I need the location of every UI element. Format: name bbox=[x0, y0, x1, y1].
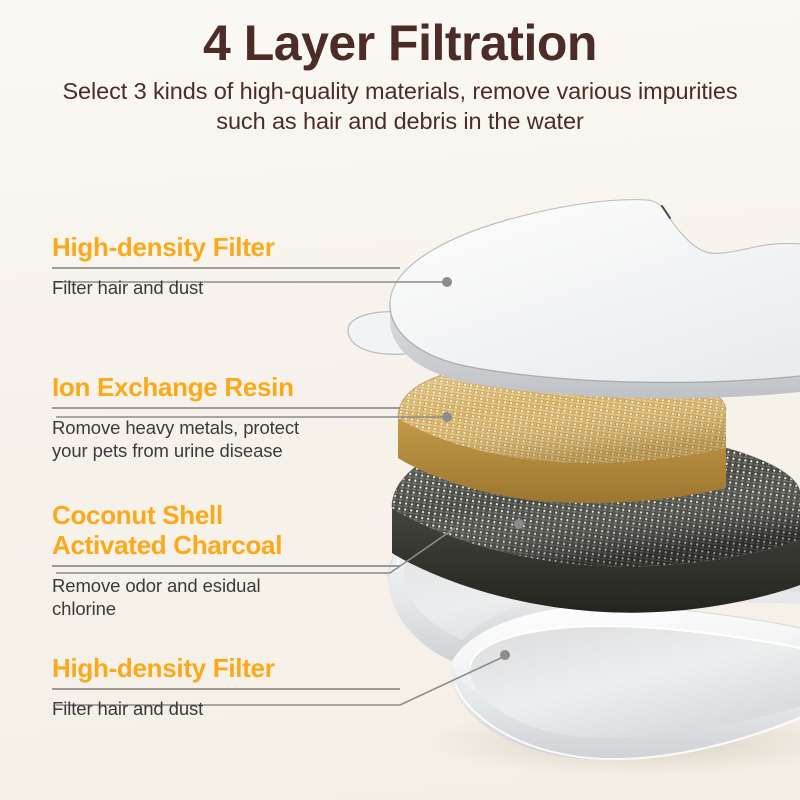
layer-divider bbox=[52, 267, 400, 269]
connector-dot-3 bbox=[514, 519, 524, 529]
layer-title: Coconut Shell Activated Charcoal bbox=[52, 500, 400, 560]
layer-divider bbox=[52, 688, 400, 690]
ground-shadow bbox=[425, 708, 800, 776]
layer-white-tray-bottom bbox=[452, 606, 800, 760]
layer-description: Romove heavy metals, protect your pets f… bbox=[52, 416, 400, 462]
layer-charcoal-mesh bbox=[392, 430, 800, 613]
layer-description: Filter hair and dust bbox=[52, 697, 400, 720]
layer-title: Ion Exchange Resin bbox=[52, 372, 400, 402]
layer-label-ion-exchange-resin: Ion Exchange Resin Romove heavy metals, … bbox=[52, 372, 400, 462]
connector-dot-4 bbox=[500, 650, 510, 660]
connector-lines bbox=[56, 282, 503, 705]
layer-description: Filter hair and dust bbox=[52, 276, 400, 299]
connector-dots bbox=[442, 277, 524, 660]
layer-divider bbox=[52, 565, 400, 567]
layer-white-shell-mid bbox=[388, 504, 800, 661]
header: 4 Layer Filtration Select 3 kinds of hig… bbox=[0, 0, 800, 136]
layer-divider bbox=[52, 407, 400, 409]
layer-label-high-density-filter-bottom: High-density Filter Filter hair and dust bbox=[52, 653, 400, 720]
filtration-infographic: 4 Layer Filtration Select 3 kinds of hig… bbox=[0, 0, 800, 800]
layer-label-coconut-shell-activated-charcoal: Coconut Shell Activated Charcoal Remove … bbox=[52, 500, 400, 621]
layer-title: High-density Filter bbox=[52, 653, 400, 683]
layer-description: Remove odor and esidual chlorine bbox=[52, 574, 400, 620]
connector-dot-1 bbox=[442, 277, 452, 287]
page-subtitle: Select 3 kinds of high-quality materials… bbox=[50, 76, 750, 136]
layer-golden-resin-mesh bbox=[398, 362, 726, 503]
layer-title: High-density Filter bbox=[52, 232, 400, 262]
connector-dot-2 bbox=[442, 412, 452, 422]
layer-label-high-density-filter-top: High-density Filter Filter hair and dust bbox=[52, 232, 400, 299]
layer-white-pad-top bbox=[348, 200, 800, 399]
page-title: 4 Layer Filtration bbox=[0, 0, 800, 70]
